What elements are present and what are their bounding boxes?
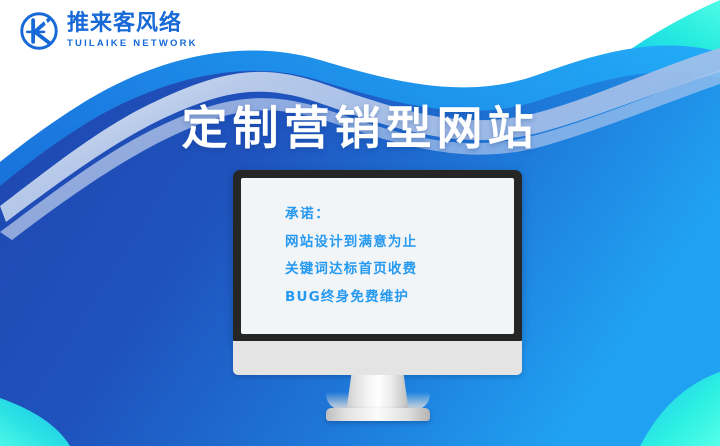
screen-line-design: 网站设计到满意为止 [285,236,514,250]
screen-line-bug: BUG终身免费维护 [285,291,514,305]
logo-name-cn: 推来客风络 [67,13,198,35]
page-title: 定制营销型网站 [0,92,720,158]
monitor-chin [233,341,522,375]
monitor-stand-base [326,408,430,421]
logo-name-en: TUILAIKE NETWORK [67,39,198,49]
circle-k-logo-icon [18,10,60,52]
brand-logo: 推来客风络 TUILAIKE NETWORK [18,10,198,52]
screen-line-keyword: 关键词达标首页收费 [285,263,514,277]
promo-banner: 推来客风络 TUILAIKE NETWORK 定制营销型网站 承诺： 网站设计到… [0,0,720,446]
monitor-bezel: 承诺： 网站设计到满意为止 关键词达标首页收费 BUG终身免费维护 [233,170,522,341]
logo-text: 推来客风络 TUILAIKE NETWORK [67,13,198,49]
monitor-screen: 承诺： 网站设计到满意为止 关键词达标首页收费 BUG终身免费维护 [241,178,514,334]
desktop-monitor-illustration: 承诺： 网站设计到满意为止 关键词达标首页收费 BUG终身免费维护 [233,170,522,420]
screen-line-promise-label: 承诺： [285,208,514,222]
monitor-stand [233,375,522,420]
